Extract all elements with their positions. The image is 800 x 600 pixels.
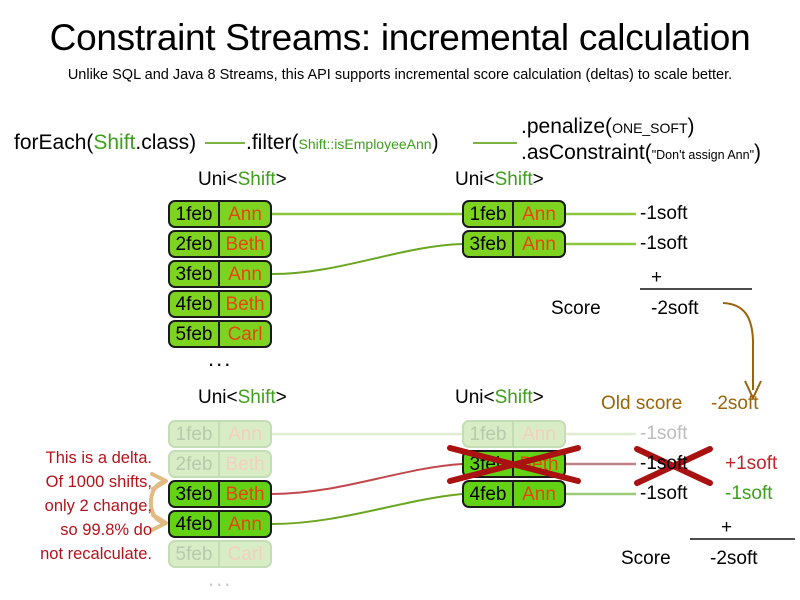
code-asconstraint-pre: .asConstraint( <box>521 141 652 164</box>
uni-type: Shift <box>495 169 533 190</box>
uni-prefix: Uni< <box>198 387 238 408</box>
code-foreach-pre: forEach( <box>14 131 93 154</box>
shift-date: 4feb <box>170 292 220 316</box>
shift-employee: Ann <box>514 202 564 226</box>
shift-employee: Ann <box>514 422 564 446</box>
code-penalize-pre: .penalize( <box>521 115 612 138</box>
code-foreach: forEach(Shift.class) <box>14 130 196 156</box>
shift-box-removed[interactable]: 3feb Beth <box>462 450 566 478</box>
sum-rule <box>640 288 752 290</box>
uni-suffix: > <box>533 169 544 190</box>
uni-suffix: > <box>276 169 287 190</box>
shift-box[interactable]: 3feb Ann <box>462 230 566 258</box>
shift-date: 3feb <box>464 232 514 256</box>
shift-date: 3feb <box>170 262 220 286</box>
shift-employee: Beth <box>514 452 564 476</box>
penalty-value: -1soft <box>640 423 688 445</box>
shift-date: 2feb <box>170 452 220 476</box>
code-filter-pre: .filter( <box>246 131 299 154</box>
shift-employee: Beth <box>220 452 270 476</box>
score-label: Score <box>621 548 671 570</box>
shift-date: 4feb <box>464 482 514 506</box>
uni-suffix: > <box>276 387 287 408</box>
shift-date: 5feb <box>170 542 220 566</box>
delta-note: This is a delta. Of 1000 shifts, only 2 … <box>4 446 152 566</box>
code-connector-2 <box>473 142 517 144</box>
score-total: -2soft <box>651 298 699 320</box>
shift-date: 1feb <box>464 202 514 226</box>
shift-employee: Ann <box>514 232 564 256</box>
uni-type: Shift <box>495 387 533 408</box>
bottom-filtered-shift-list: 1feb Ann 3feb Beth 4feb Ann <box>462 420 566 508</box>
shift-employee: Ann <box>514 482 564 506</box>
code-filter: .filter(Shift::isEmployeeAnn) <box>246 130 439 157</box>
delta-note-line: This is a delta. <box>4 446 152 470</box>
shift-date: 3feb <box>464 452 514 476</box>
shift-date: 4feb <box>170 512 220 536</box>
shift-date: 3feb <box>170 482 220 506</box>
shift-box[interactable]: 2feb Beth <box>168 450 272 478</box>
shift-box[interactable]: 5feb Carl <box>168 320 272 348</box>
uni-type: Shift <box>238 387 276 408</box>
old-score-value: -2soft <box>711 393 759 415</box>
sum-plus-sign: + <box>651 268 662 287</box>
shift-employee: Carl <box>220 542 270 566</box>
shift-employee: Ann <box>220 202 270 226</box>
shift-employee: Beth <box>220 292 270 316</box>
uni-prefix: Uni< <box>198 169 238 190</box>
code-asconstraint-post: ) <box>754 141 761 164</box>
shift-employee: Beth <box>220 232 270 256</box>
top-source-shift-list: 1feb Ann 2feb Beth 3feb Ann 4feb Beth 5f… <box>168 200 272 348</box>
shift-box[interactable]: 3feb Ann <box>168 260 272 288</box>
penalty-value: -1soft <box>640 453 688 475</box>
shift-box[interactable]: 1feb Ann <box>462 420 566 448</box>
shift-employee: Carl <box>220 322 270 346</box>
slide-canvas: Constraint Streams: incremental calculat… <box>0 0 800 600</box>
shift-box[interactable]: 1feb Ann <box>168 420 272 448</box>
shift-employee: Ann <box>220 512 270 536</box>
shift-box[interactable]: 1feb Ann <box>462 200 566 228</box>
shift-box-changed[interactable]: 3feb Beth <box>168 480 272 508</box>
code-filter-post: ) <box>432 131 439 154</box>
bottom-source-shift-list: 1feb Ann 2feb Beth 3feb Beth 4feb Ann 5f… <box>168 420 272 568</box>
code-connector-1 <box>205 142 245 144</box>
code-asconstraint-arg: "Don't assign Ann" <box>652 148 754 162</box>
stream-label-bottom-right: Uni<Shift> <box>455 386 544 409</box>
sum-plus-sign: + <box>721 518 732 537</box>
delta-note-line: Of 1000 shifts, <box>4 470 152 494</box>
page-subtitle: Unlike SQL and Java 8 Streams, this API … <box>0 66 800 84</box>
uni-prefix: Uni< <box>455 387 495 408</box>
old-score-label: Old score <box>601 393 682 415</box>
shift-box-changed[interactable]: 4feb Ann <box>168 510 272 538</box>
shift-box[interactable]: 1feb Ann <box>168 200 272 228</box>
code-asconstraint: .asConstraint("Don't assign Ann") <box>521 140 761 168</box>
code-penalize-arg: ONE_SOFT <box>612 120 687 136</box>
shift-date: 1feb <box>464 422 514 446</box>
shift-box[interactable]: 4feb Beth <box>168 290 272 318</box>
shift-date: 1feb <box>170 422 220 446</box>
sum-rule <box>690 538 795 540</box>
code-penalize: .penalize(ONE_SOFT) <box>521 114 695 141</box>
delta-value-removed: -1soft <box>725 483 773 505</box>
shift-employee: Ann <box>220 262 270 286</box>
shift-box[interactable]: 5feb Carl <box>168 540 272 568</box>
delta-note-line: not recalculate. <box>4 542 152 566</box>
page-title: Constraint Streams: incremental calculat… <box>0 16 800 60</box>
shift-box-added[interactable]: 4feb Ann <box>462 480 566 508</box>
code-filter-arg: Shift::isEmployeeAnn <box>299 136 432 152</box>
shift-employee: Ann <box>220 422 270 446</box>
top-filtered-shift-list: 1feb Ann 3feb Ann <box>462 200 566 258</box>
top-source-ellipsis: ... <box>208 348 232 370</box>
stream-label-bottom-left: Uni<Shift> <box>198 386 287 409</box>
penalty-value: -1soft <box>640 203 688 225</box>
uni-prefix: Uni< <box>455 169 495 190</box>
uni-suffix: > <box>533 387 544 408</box>
code-foreach-type: Shift <box>93 131 135 154</box>
shift-box[interactable]: 2feb Beth <box>168 230 272 258</box>
uni-type: Shift <box>238 169 276 190</box>
delta-note-line: so 99.8% do <box>4 518 152 542</box>
stream-label-top-right: Uni<Shift> <box>455 168 544 191</box>
score-label: Score <box>551 298 601 320</box>
shift-date: 5feb <box>170 322 220 346</box>
delta-note-line: only 2 change, <box>4 494 152 518</box>
code-foreach-post: .class) <box>135 131 196 154</box>
bottom-source-ellipsis: ... <box>208 568 232 590</box>
penalty-value: -1soft <box>640 483 688 505</box>
score-total: -2soft <box>710 548 758 570</box>
penalty-value: -1soft <box>640 233 688 255</box>
delta-value-added: +1soft <box>725 453 777 475</box>
stream-label-top-left: Uni<Shift> <box>198 168 287 191</box>
shift-employee: Beth <box>220 482 270 506</box>
shift-date: 2feb <box>170 232 220 256</box>
code-penalize-post: ) <box>688 115 695 138</box>
shift-date: 1feb <box>170 202 220 226</box>
